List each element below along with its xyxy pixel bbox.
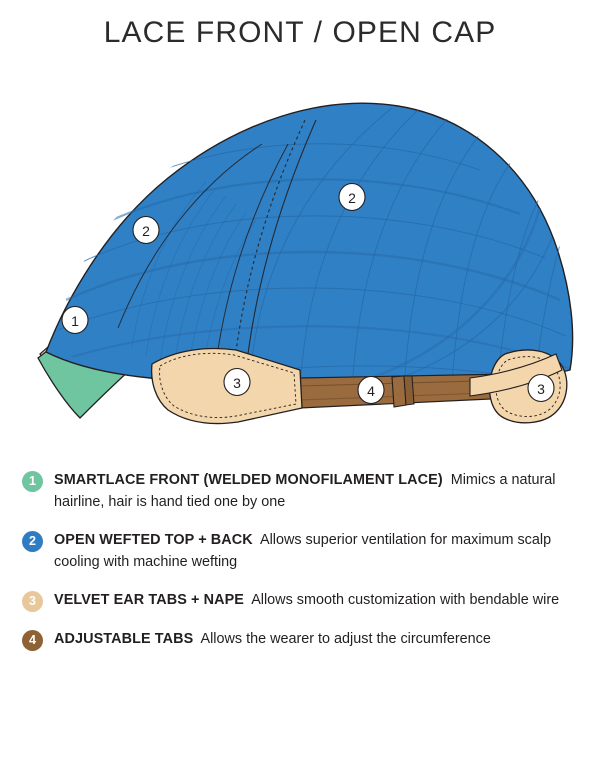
legend-item-2: 2 OPEN WEFTED TOP + BACK Allows superior…	[0, 530, 600, 573]
legend-item-1: 1 SMARTLACE FRONT (WELDED MONOFILAMENT L…	[0, 470, 600, 513]
callout-badge-3a: 3	[224, 369, 250, 396]
callout-badge-2a-label: 2	[142, 223, 150, 239]
page-title: LACE FRONT / OPEN CAP	[0, 18, 600, 48]
legend-badge-2: 2	[22, 531, 43, 552]
legend-term-1: SMARTLACE FRONT (WELDED MONOFILAMENT LAC…	[54, 472, 443, 488]
legend-list: 1 SMARTLACE FRONT (WELDED MONOFILAMENT L…	[0, 470, 600, 668]
wig-cap-illustration: 1 2 2 3 4 3	[0, 78, 600, 458]
legend-badge-4: 4	[22, 630, 43, 651]
legend-description-4: Allows the wearer to adjust the circumfe…	[200, 631, 490, 647]
legend-item-3: 3 VELVET EAR TABS + NAPE Allows smooth c…	[0, 590, 600, 612]
callout-badge-1-label: 1	[71, 313, 79, 329]
legend-term-4: ADJUSTABLE TABS	[54, 631, 193, 647]
callout-badge-1: 1	[62, 307, 88, 334]
legend-text-2: OPEN WEFTED TOP + BACK Allows superior v…	[54, 530, 586, 573]
wig-cap-diagram: 1 2 2 3 4 3	[0, 78, 600, 458]
callout-badge-3a-label: 3	[233, 375, 241, 391]
page-root: LACE FRONT / OPEN CAP	[0, 0, 600, 776]
callout-badge-2a: 2	[133, 217, 159, 244]
legend-term-2: OPEN WEFTED TOP + BACK	[54, 532, 253, 548]
callout-badge-2b: 2	[339, 184, 365, 211]
callout-badge-2b-label: 2	[348, 190, 356, 206]
callout-badge-4-label: 4	[367, 383, 375, 399]
legend-description-3: Allows smooth customization with bendabl…	[251, 592, 559, 608]
open-wefted-dome	[46, 103, 573, 394]
legend-term-3: VELVET EAR TABS + NAPE	[54, 592, 244, 608]
legend-text-3: VELVET EAR TABS + NAPE Allows smooth cus…	[54, 590, 586, 612]
legend-badge-1: 1	[22, 471, 43, 492]
legend-text-4: ADJUSTABLE TABS Allows the wearer to adj…	[54, 629, 586, 651]
callout-badge-4: 4	[358, 377, 384, 404]
legend-text-1: SMARTLACE FRONT (WELDED MONOFILAMENT LAC…	[54, 470, 586, 513]
callout-badge-3b-label: 3	[537, 381, 545, 397]
callout-badge-3b: 3	[528, 375, 554, 402]
legend-badge-3: 3	[22, 591, 43, 612]
legend-item-4: 4 ADJUSTABLE TABS Allows the wearer to a…	[0, 629, 600, 651]
page-title-container: LACE FRONT / OPEN CAP	[0, 18, 600, 48]
